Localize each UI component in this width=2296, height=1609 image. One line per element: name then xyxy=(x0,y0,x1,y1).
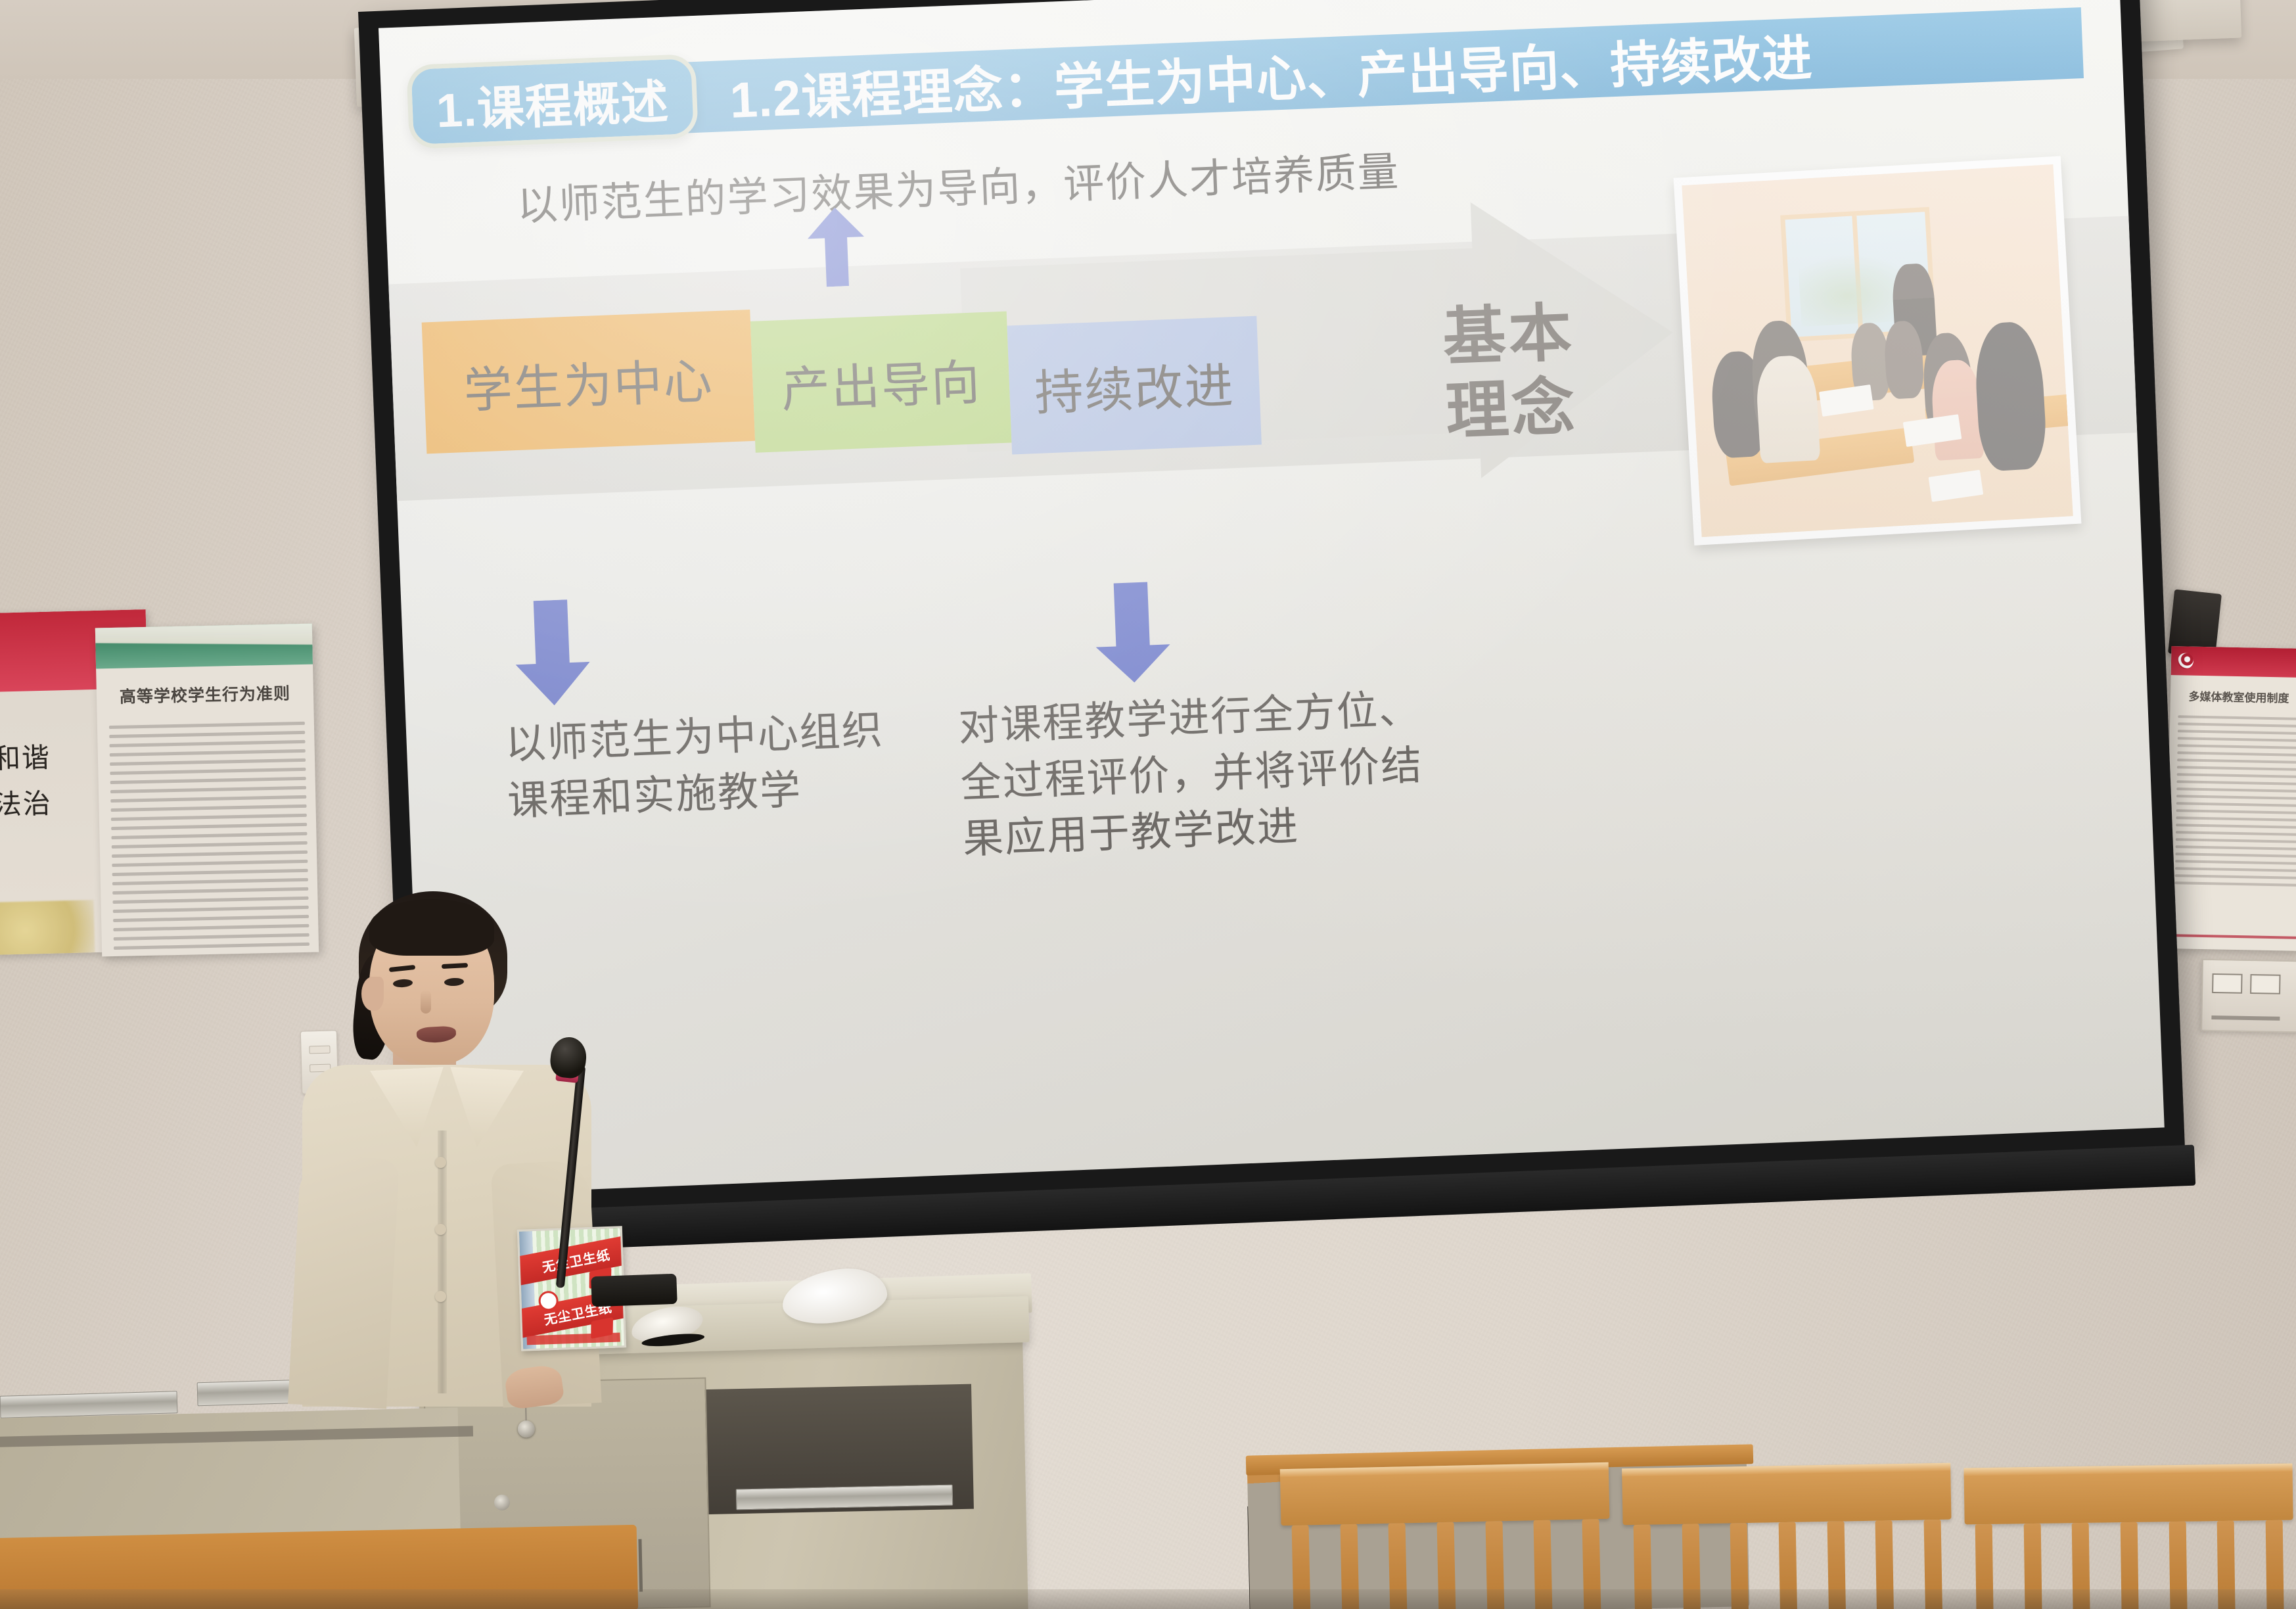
poster-right-title: 多媒体教室使用制度 xyxy=(2170,687,2296,706)
microphone-base xyxy=(591,1274,677,1307)
student-chair-1 xyxy=(1280,1462,1611,1609)
poster-title: 高等学校学生行为准则 xyxy=(97,680,314,709)
lectern-lock-icon[interactable] xyxy=(518,1420,536,1438)
poster-multimedia-room-rules: 多媒体教室使用制度 xyxy=(2166,646,2296,951)
basic-concept-line-2: 理念 xyxy=(1444,370,1578,450)
student-chair-3 xyxy=(1963,1464,2294,1609)
presenter-button-3 xyxy=(435,1291,446,1302)
poster-gold-ornament xyxy=(0,900,95,955)
down-arrows-group xyxy=(402,538,2146,711)
concept-box-student-centered: 学生为中心 xyxy=(422,310,755,454)
slide-title: 1.2课程理念：学生为中心、产出导向、持续改进 xyxy=(578,7,2084,137)
slide-note-left: 以师范生为中心组织课程和实施教学 xyxy=(504,701,915,829)
poster-student-code-of-conduct: 高等学校学生行为准则 xyxy=(95,624,319,957)
slide-classroom-photo xyxy=(1674,156,2082,546)
classroom-scene: 3 4 5 6 7 8 和谐 法治 高等学校学生行为准则 多媒体教室使用制度 xyxy=(0,0,2296,1609)
poster-body-text xyxy=(109,716,310,956)
poster-red-word-1: 和谐 xyxy=(0,737,51,780)
poster-red-word-2: 法治 xyxy=(0,783,53,826)
poster-tape xyxy=(95,624,319,645)
poster-right-org xyxy=(2197,656,2236,667)
poster-right-footer-rule xyxy=(2172,934,2296,939)
presenter-hair-front xyxy=(369,899,494,956)
wall-control-panel[interactable] xyxy=(2201,959,2296,1033)
concept-box-row: 学生为中心 产出导向 持续改进 xyxy=(422,290,1262,478)
concept-box-outcome-oriented: 产出导向 xyxy=(750,312,1012,453)
presenter-ear xyxy=(361,977,384,1011)
arrow-up-icon xyxy=(806,206,866,287)
basic-concept-line-1: 基本 xyxy=(1442,296,1576,375)
slide-content: 1.课程概述 1.2课程理念：学生为中心、产出导向、持续改进 以师范生的学习效果… xyxy=(379,0,2165,1196)
presenter-button-2 xyxy=(435,1224,446,1235)
screen-surface: 1.课程概述 1.2课程理念：学生为中心、产出导向、持续改进 以师范生的学习效果… xyxy=(379,0,2165,1196)
school-logo-icon xyxy=(2178,653,2193,668)
poster-right-body xyxy=(2174,711,2296,891)
floor-shadow xyxy=(0,1589,2296,1609)
photo-content xyxy=(1682,164,2073,537)
basic-concept-label: 基本 理念 xyxy=(1442,296,1579,450)
presenter-button-1 xyxy=(435,1157,446,1168)
presenter-left-arm xyxy=(288,1154,400,1409)
presenter-shirt-placket xyxy=(438,1131,447,1393)
slide-note-right: 对课程教学进行全方位、全过程评价，并将评价结果应用于教学改进 xyxy=(957,680,1463,868)
poster-right-header xyxy=(2171,646,2296,678)
presenter-nose xyxy=(421,990,431,1014)
student-chair-2 xyxy=(1622,1463,1953,1609)
concept-box-continuous-improvement: 持续改进 xyxy=(1007,316,1262,455)
tissue-box-footer xyxy=(526,1332,620,1345)
slide-section-badge: 1.课程概述 xyxy=(406,54,699,149)
projection-screen: 1.课程概述 1.2课程理念：学生为中心、产出导向、持续改进 以师范生的学习效果… xyxy=(358,0,2185,1221)
